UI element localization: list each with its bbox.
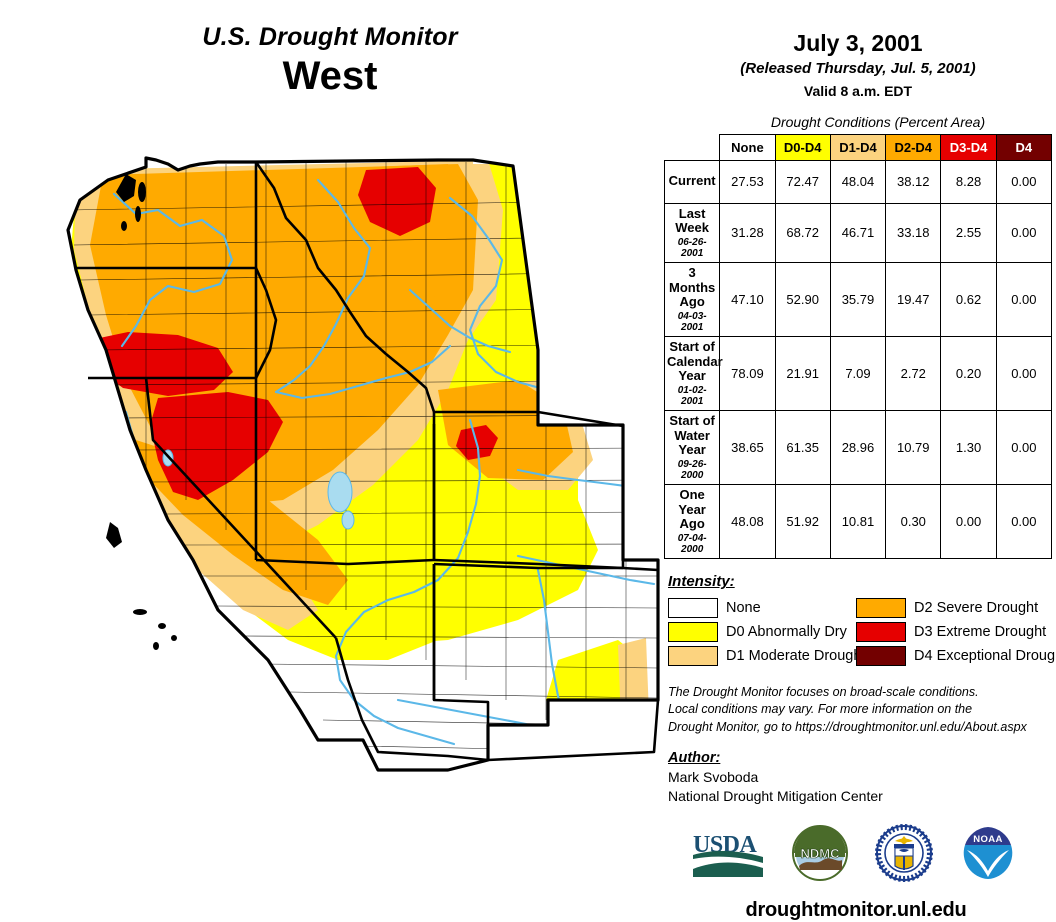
row-label-line: Start of bbox=[667, 414, 717, 429]
author-organization: National Drought Mitigation Center bbox=[668, 787, 1056, 806]
table-body: Current27.5372.4748.0438.128.280.00Last … bbox=[665, 160, 1052, 559]
date-block: July 3, 2001 (Released Thursday, Jul. 5,… bbox=[660, 0, 1056, 101]
row-label-date: 07-04-2000 bbox=[667, 533, 717, 555]
site-url[interactable]: droughtmonitor.unl.edu bbox=[660, 899, 1056, 922]
author-block: Author: Mark Svoboda National Drought Mi… bbox=[668, 750, 1056, 806]
great-salt-lake bbox=[328, 472, 352, 512]
cell-r3-c1: 21.91 bbox=[775, 337, 830, 411]
cell-r0-c3: 38.12 bbox=[886, 160, 941, 203]
valid-time: Valid 8 a.m. EDT bbox=[660, 82, 1056, 101]
legend-grid: NoneD2 Severe DroughtD0 Abnormally DryD3… bbox=[668, 596, 1056, 668]
row-label-line: Last Week bbox=[667, 207, 717, 236]
row-label-date: 09-26-2000 bbox=[667, 459, 717, 481]
cell-r0-c4: 8.28 bbox=[941, 160, 996, 203]
cell-r3-c2: 7.09 bbox=[830, 337, 885, 411]
disclaimer-line-3: Drought Monitor, go to https://droughtmo… bbox=[668, 719, 1056, 736]
row-label-date: 04-03-2001 bbox=[667, 311, 717, 333]
row-label-1: Last Week06-26-2001 bbox=[665, 203, 720, 262]
cell-r0-c2: 48.04 bbox=[830, 160, 885, 203]
cell-r2-c0: 47.10 bbox=[720, 263, 775, 337]
legend-item-0: None bbox=[668, 598, 856, 618]
legend-swatch-icon bbox=[856, 622, 906, 642]
row-label-date: 06-26-2001 bbox=[667, 237, 717, 259]
col-header-d0d4: D0-D4 bbox=[775, 134, 830, 160]
logo-row: USDA NDMC bbox=[660, 824, 1056, 887]
legend-label: D2 Severe Drought bbox=[914, 600, 1038, 616]
legend-item-2: D0 Abnormally Dry bbox=[668, 622, 856, 642]
info-panel: July 3, 2001 (Released Thursday, Jul. 5,… bbox=[660, 0, 1056, 816]
row-label-line: Current bbox=[667, 174, 717, 189]
cell-r5-c4: 0.00 bbox=[941, 485, 996, 559]
issue-date: July 3, 2001 bbox=[660, 30, 1056, 56]
col-header-d3d4: D3-D4 bbox=[941, 134, 996, 160]
cell-r3-c0: 78.09 bbox=[720, 337, 775, 411]
row-label-3: Start ofCalendar Year01-02-2001 bbox=[665, 337, 720, 411]
noaa-logo: NOAA bbox=[959, 824, 1017, 887]
legend-label: None bbox=[726, 600, 761, 616]
table-row: One Year Ago07-04-200048.0851.9210.810.3… bbox=[665, 485, 1052, 559]
legend-label: D3 Extreme Drought bbox=[914, 624, 1046, 640]
drought-map[interactable] bbox=[18, 140, 664, 790]
ndmc-logo: NDMC bbox=[791, 824, 849, 887]
cell-r1-c2: 46.71 bbox=[830, 203, 885, 262]
svg-text:NDMC: NDMC bbox=[801, 846, 841, 861]
table-header: None D0-D4 D1-D4 D2-D4 D3-D4 D4 bbox=[665, 134, 1052, 160]
legend-item-5: D4 Exceptional Drought bbox=[856, 646, 1056, 666]
page-title: U.S. Drought Monitor bbox=[0, 24, 660, 52]
cell-r0-c1: 72.47 bbox=[775, 160, 830, 203]
cell-r1-c1: 68.72 bbox=[775, 203, 830, 262]
cell-r2-c1: 52.90 bbox=[775, 263, 830, 337]
legend-swatch-icon bbox=[668, 622, 718, 642]
col-header-d4: D4 bbox=[996, 134, 1051, 160]
row-label-4: Start ofWater Year09-26-2000 bbox=[665, 411, 720, 485]
table-row: Last Week06-26-200131.2868.7246.7133.182… bbox=[665, 203, 1052, 262]
usda-logo: USDA bbox=[691, 827, 765, 884]
author-heading: Author: bbox=[668, 750, 1056, 766]
table-header-row: None D0-D4 D1-D4 D2-D4 D3-D4 D4 bbox=[665, 134, 1052, 160]
cell-r3-c4: 0.20 bbox=[941, 337, 996, 411]
table-row: Start ofCalendar Year01-02-200178.0921.9… bbox=[665, 337, 1052, 411]
disclaimer-line-1: The Drought Monitor focuses on broad-sca… bbox=[668, 684, 1056, 701]
legend-swatch-icon bbox=[856, 646, 906, 666]
released-date: (Released Thursday, Jul. 5, 2001) bbox=[660, 59, 1056, 79]
map-title-block: U.S. Drought Monitor West bbox=[0, 24, 660, 98]
legend-swatch-icon bbox=[668, 646, 718, 666]
usdc-seal-logo bbox=[875, 824, 933, 887]
table-row: 3 Months Ago04-03-200147.1052.9035.7919.… bbox=[665, 263, 1052, 337]
cell-r1-c5: 0.00 bbox=[996, 203, 1051, 262]
cell-r4-c5: 0.00 bbox=[996, 411, 1051, 485]
cell-r0-c5: 0.00 bbox=[996, 160, 1051, 203]
cell-r4-c2: 28.96 bbox=[830, 411, 885, 485]
cell-r3-c3: 2.72 bbox=[886, 337, 941, 411]
table-row: Current27.5372.4748.0438.128.280.00 bbox=[665, 160, 1052, 203]
legend-swatch-icon bbox=[856, 598, 906, 618]
intensity-legend: Intensity: NoneD2 Severe DroughtD0 Abnor… bbox=[668, 573, 1056, 668]
cell-r1-c0: 31.28 bbox=[720, 203, 775, 262]
legend-label: D1 Moderate Drought bbox=[726, 648, 865, 664]
author-name: Mark Svoboda bbox=[668, 768, 1056, 787]
col-header-d1d4: D1-D4 bbox=[830, 134, 885, 160]
row-label-line: One Year Ago bbox=[667, 488, 717, 532]
cell-r0-c0: 27.53 bbox=[720, 160, 775, 203]
legend-item-3: D3 Extreme Drought bbox=[856, 622, 1056, 642]
col-header-none: None bbox=[720, 134, 775, 160]
legend-item-4: D1 Moderate Drought bbox=[668, 646, 856, 666]
cell-r2-c4: 0.62 bbox=[941, 263, 996, 337]
cell-r5-c5: 0.00 bbox=[996, 485, 1051, 559]
row-label-date: 01-02-2001 bbox=[667, 385, 717, 407]
drought-map-svg[interactable] bbox=[18, 140, 664, 790]
intensity-heading: Intensity: bbox=[668, 573, 1056, 590]
legend-swatch-icon bbox=[668, 598, 718, 618]
cell-r3-c5: 0.00 bbox=[996, 337, 1051, 411]
cell-r1-c4: 2.55 bbox=[941, 203, 996, 262]
col-header-d2d4: D2-D4 bbox=[886, 134, 941, 160]
cell-r5-c3: 0.30 bbox=[886, 485, 941, 559]
disclaimer-text: The Drought Monitor focuses on broad-sca… bbox=[668, 684, 1056, 736]
legend-item-1: D2 Severe Drought bbox=[856, 598, 1056, 618]
cell-r5-c2: 10.81 bbox=[830, 485, 885, 559]
row-label-line: 3 Months Ago bbox=[667, 266, 717, 310]
table-caption: Drought Conditions (Percent Area) bbox=[660, 114, 1056, 130]
row-label-line: Calendar Year bbox=[667, 355, 717, 384]
row-label-line: Water Year bbox=[667, 429, 717, 458]
cell-r4-c0: 38.65 bbox=[720, 411, 775, 485]
legend-label: D4 Exceptional Drought bbox=[914, 648, 1056, 664]
cell-r4-c4: 1.30 bbox=[941, 411, 996, 485]
cell-r2-c5: 0.00 bbox=[996, 263, 1051, 337]
cell-r5-c0: 48.08 bbox=[720, 485, 775, 559]
disclaimer-line-2: Local conditions may vary. For more info… bbox=[668, 701, 1056, 718]
table-corner-cell bbox=[665, 134, 720, 160]
row-label-0: Current bbox=[665, 160, 720, 203]
table-row: Start ofWater Year09-26-200038.6561.3528… bbox=[665, 411, 1052, 485]
row-label-line: Start of bbox=[667, 340, 717, 355]
cell-r2-c2: 35.79 bbox=[830, 263, 885, 337]
svg-text:NOAA: NOAA bbox=[973, 834, 1003, 845]
utah-lake bbox=[342, 511, 354, 529]
cell-r5-c1: 51.92 bbox=[775, 485, 830, 559]
cell-r1-c3: 33.18 bbox=[886, 203, 941, 262]
cell-r2-c3: 19.47 bbox=[886, 263, 941, 337]
row-label-5: One Year Ago07-04-2000 bbox=[665, 485, 720, 559]
drought-conditions-table: None D0-D4 D1-D4 D2-D4 D3-D4 D4 Current2… bbox=[664, 134, 1052, 560]
row-label-2: 3 Months Ago04-03-2001 bbox=[665, 263, 720, 337]
cell-r4-c1: 61.35 bbox=[775, 411, 830, 485]
cell-r4-c3: 10.79 bbox=[886, 411, 941, 485]
legend-label: D0 Abnormally Dry bbox=[726, 624, 847, 640]
region-title: West bbox=[0, 54, 660, 99]
